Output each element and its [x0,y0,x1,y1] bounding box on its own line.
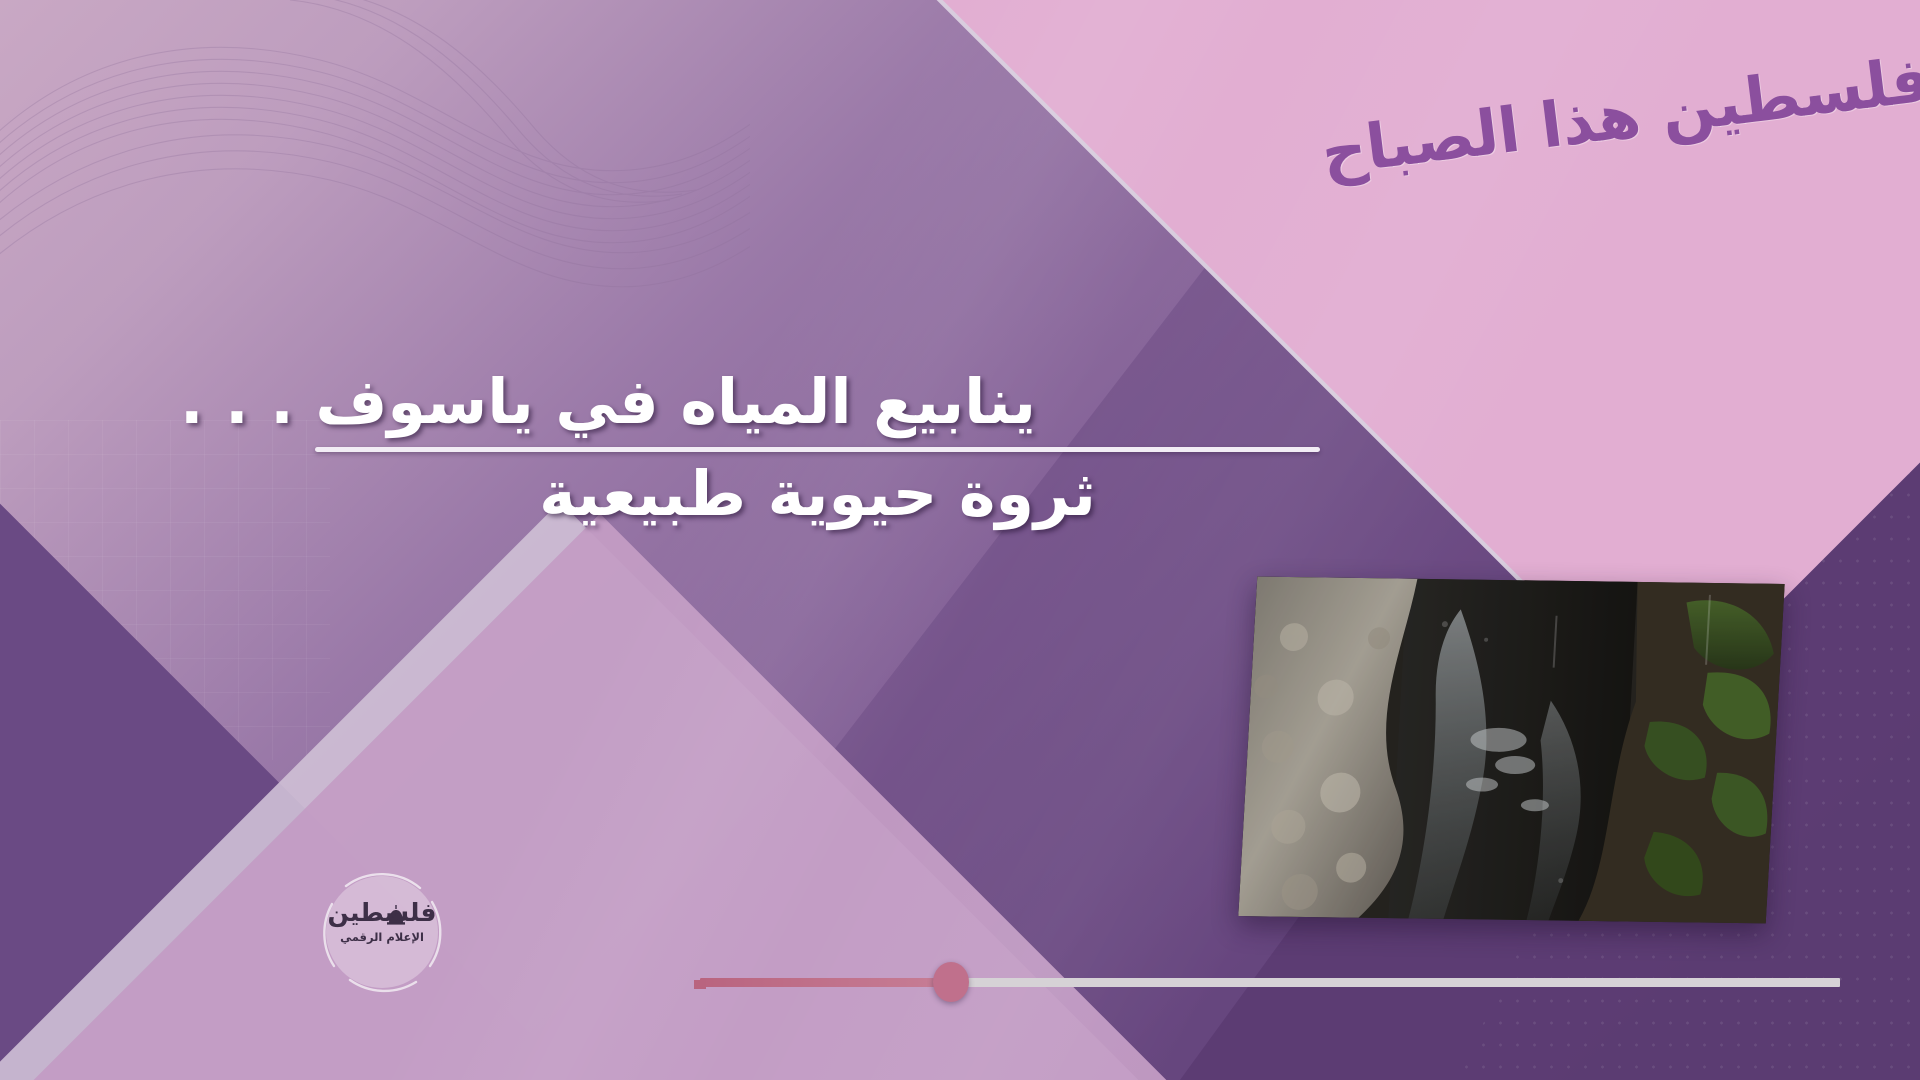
progress-fill-cap [694,980,706,989]
progress-fill [700,978,951,987]
headline-block: ينابيع المياه في ياسوف . . . ثروة حيوية … [180,370,1320,525]
logo-brand: فلسطين [312,900,452,925]
channel-logo[interactable]: فلسطين الإعلام الرقمي [312,862,452,1002]
headline-line-2: ثروة حيوية طبيعية [315,462,1320,525]
video-progress-bar[interactable] [700,976,1840,988]
logo-text-group: فلسطين الإعلام الرقمي [312,900,452,944]
headline-divider [315,447,1320,452]
broadcast-slate: فلسطين هذا الصباح ينابيع المياه في ياسوف… [0,0,1920,1080]
wave-lines-decoration [0,0,750,320]
headline-line-1: ينابيع المياه في ياسوف . . . [180,370,1320,433]
logo-tagline: الإعلام الرقمي [312,932,452,944]
video-thumbnail[interactable] [1238,577,1784,924]
progress-knob[interactable] [933,962,969,1002]
video-scene [1238,577,1784,924]
